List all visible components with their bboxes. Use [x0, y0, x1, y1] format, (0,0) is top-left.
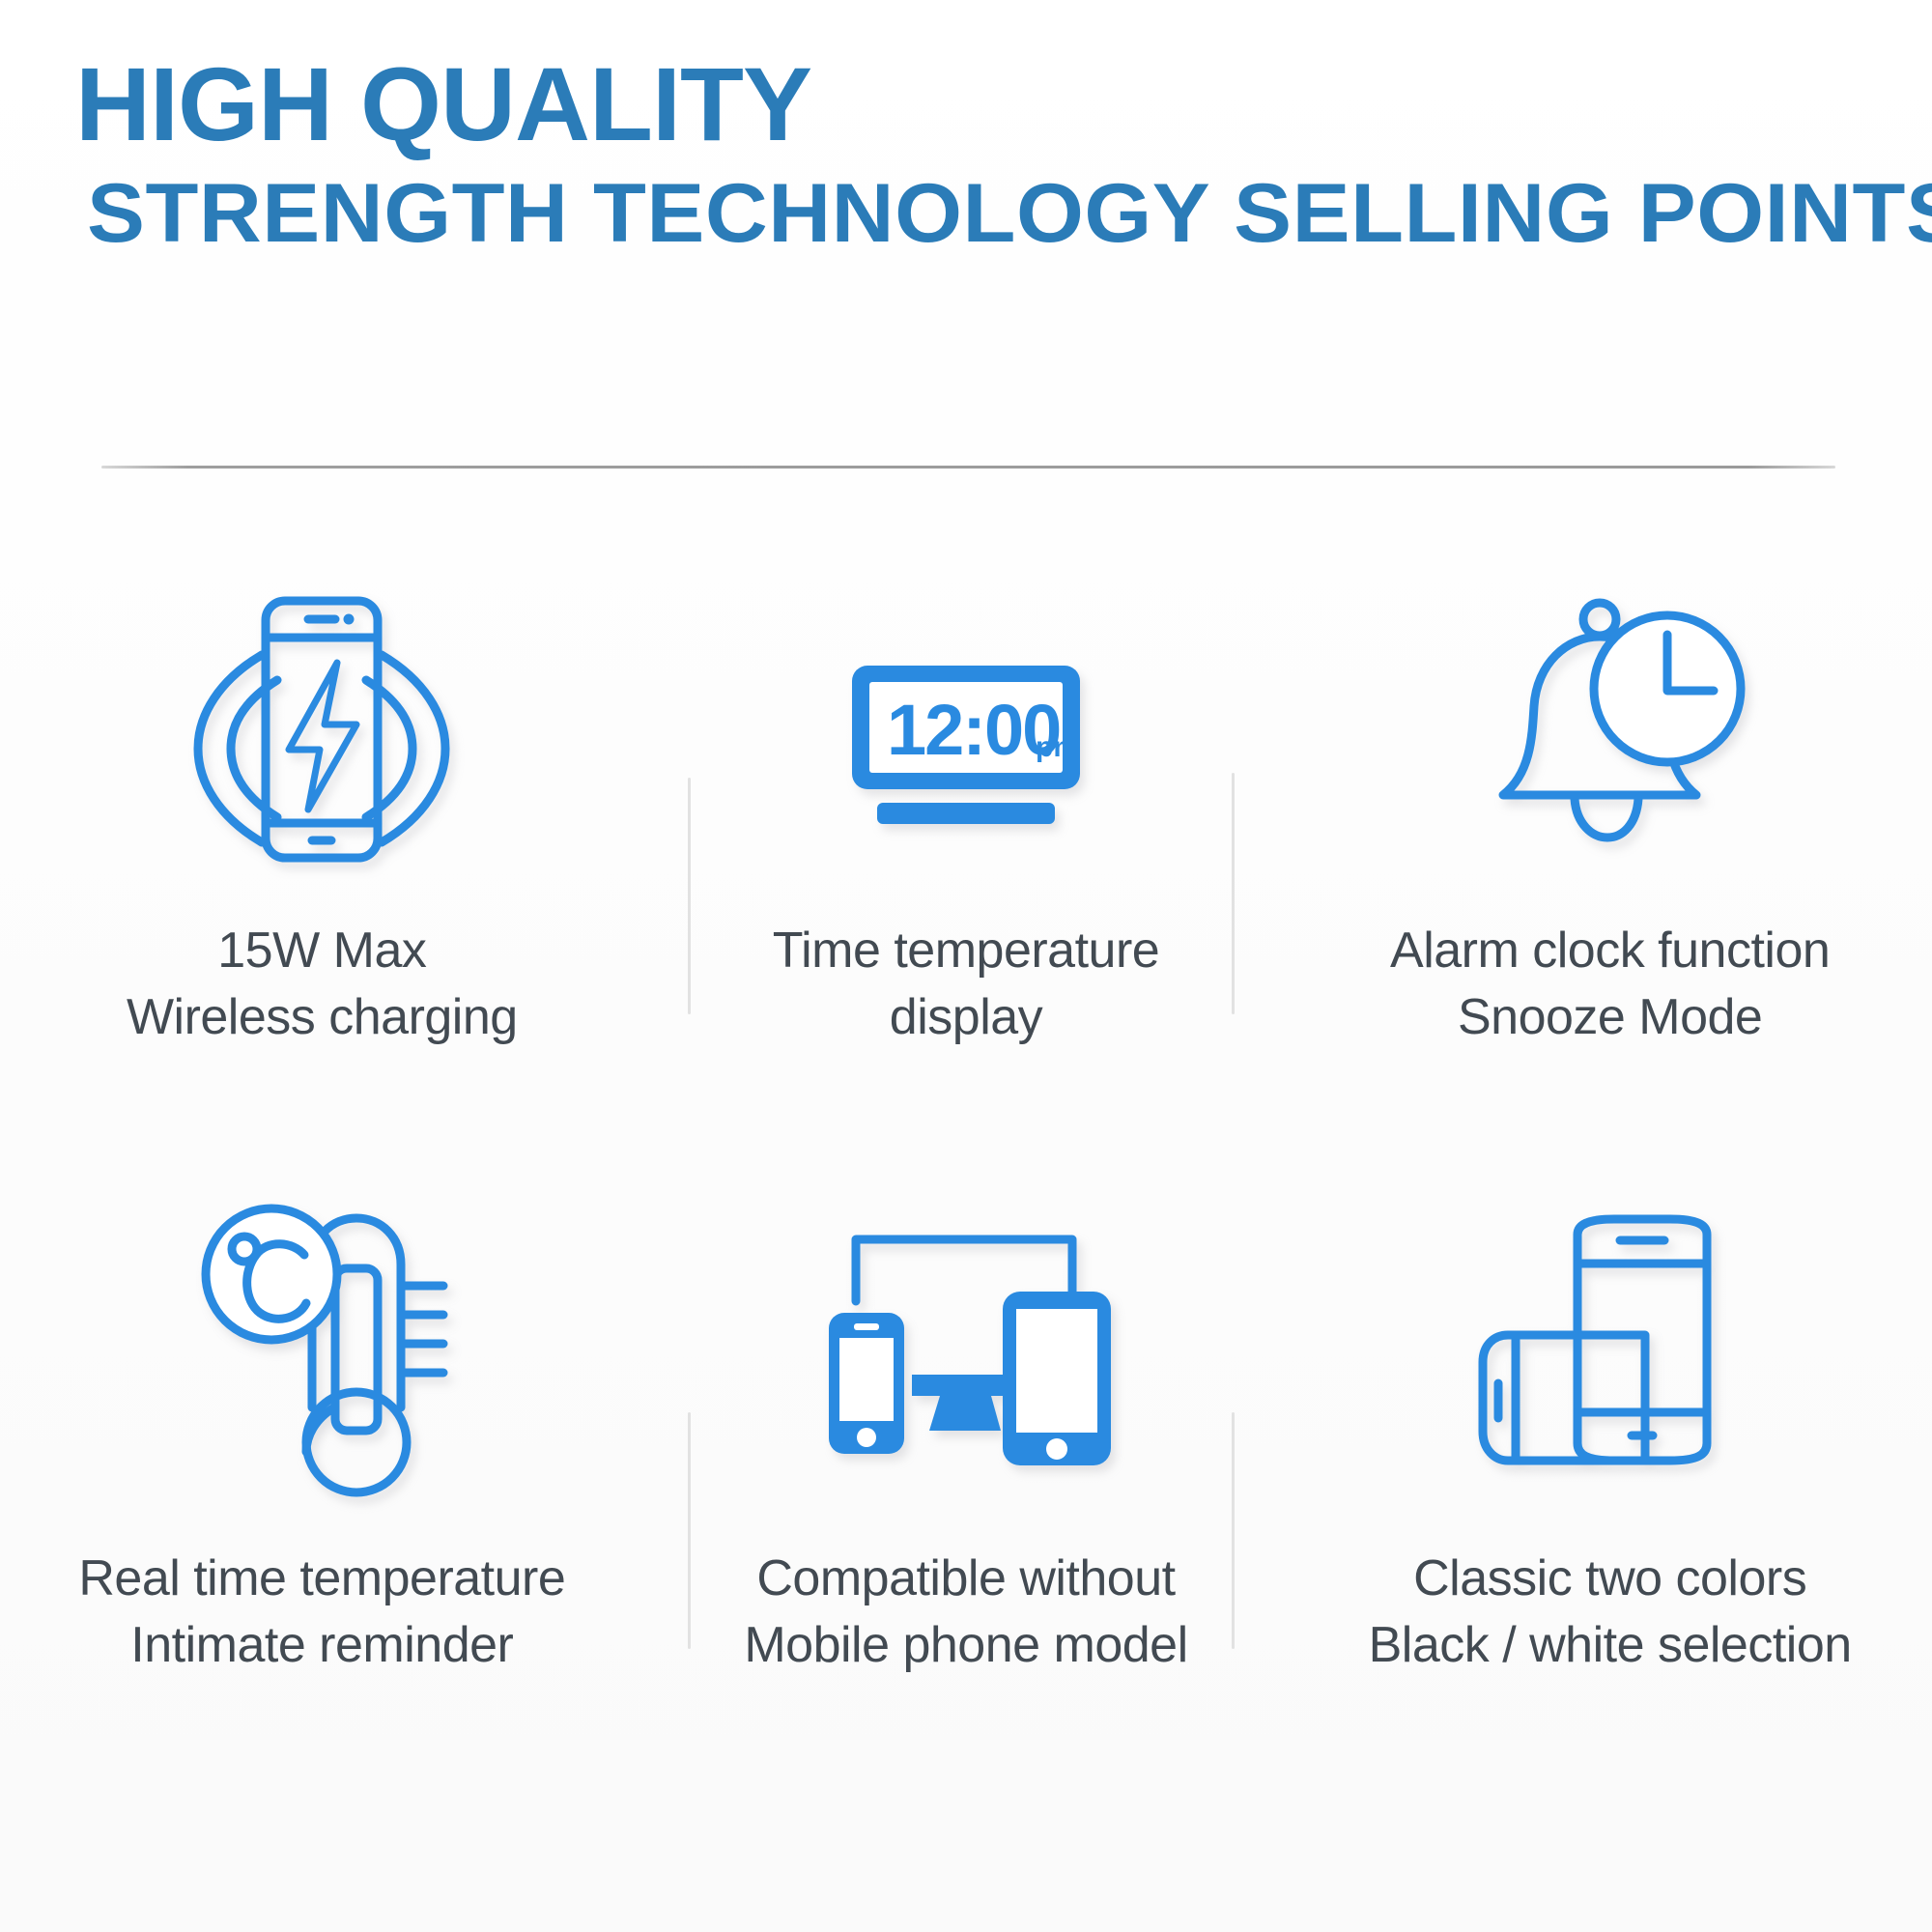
caption-line-2: Mobile phone model [744, 1612, 1187, 1679]
header-divider [101, 466, 1835, 469]
thermometer-celsius-icon [177, 1159, 467, 1546]
feature-caption: Time temperature display [773, 918, 1159, 1050]
feature-caption: Classic two colors Black / white selecti… [1369, 1546, 1852, 1678]
caption-line-1: Compatible without [744, 1546, 1187, 1612]
feature-caption: Compatible without Mobile phone model [744, 1546, 1187, 1678]
caption-line-2: Wireless charging [127, 984, 518, 1051]
svg-text:12:00: 12:00 [887, 690, 1060, 770]
feature-grid: 15W Max Wireless charging 12:00 pm Time … [0, 541, 1932, 1777]
digital-clock-display-icon: 12:00 pm [821, 541, 1111, 918]
feature-caption: Alarm clock function Snooze Mode [1390, 918, 1830, 1050]
alarm-bell-clock-icon [1461, 541, 1760, 918]
feature-cell-compatibility: Compatible without Mobile phone model [644, 1159, 1289, 1777]
caption-line-2: Snooze Mode [1390, 984, 1830, 1051]
feature-caption: Real time temperature Intimate reminder [78, 1546, 565, 1678]
feature-caption: 15W Max Wireless charging [127, 918, 518, 1050]
caption-line-1: Alarm clock function [1390, 918, 1830, 984]
feature-cell-time-display: 12:00 pm Time temperature display [644, 541, 1289, 1159]
headline-secondary: STRENGTH TECHNOLOGY SELLING POINTS [87, 168, 1932, 260]
page-header: HIGH QUALITY STRENGTH TECHNOLOGY SELLING… [75, 50, 1862, 260]
svg-text:pm: pm [1036, 731, 1079, 763]
caption-line-1: Real time temperature [78, 1546, 565, 1612]
feature-cell-wireless-charging: 15W Max Wireless charging [0, 541, 644, 1159]
caption-line-2: Intimate reminder [78, 1612, 565, 1679]
caption-line-1: Time temperature [773, 918, 1159, 984]
infographic-page: HIGH QUALITY STRENGTH TECHNOLOGY SELLING… [0, 0, 1932, 1932]
feature-cell-color-options: Classic two colors Black / white selecti… [1288, 1159, 1932, 1777]
caption-line-1: 15W Max [127, 918, 518, 984]
headline-primary: HIGH QUALITY [75, 50, 1862, 158]
phone-on-dock-icon [1456, 1159, 1765, 1546]
multi-device-compatible-icon [811, 1159, 1121, 1546]
wireless-charging-phone-icon [177, 541, 467, 918]
caption-line-2: display [773, 984, 1159, 1051]
caption-line-1: Classic two colors [1369, 1546, 1852, 1612]
feature-cell-alarm-clock: Alarm clock function Snooze Mode [1288, 541, 1932, 1159]
feature-cell-real-time-temperature: Real time temperature Intimate reminder [0, 1159, 644, 1777]
caption-line-2: Black / white selection [1369, 1612, 1852, 1679]
